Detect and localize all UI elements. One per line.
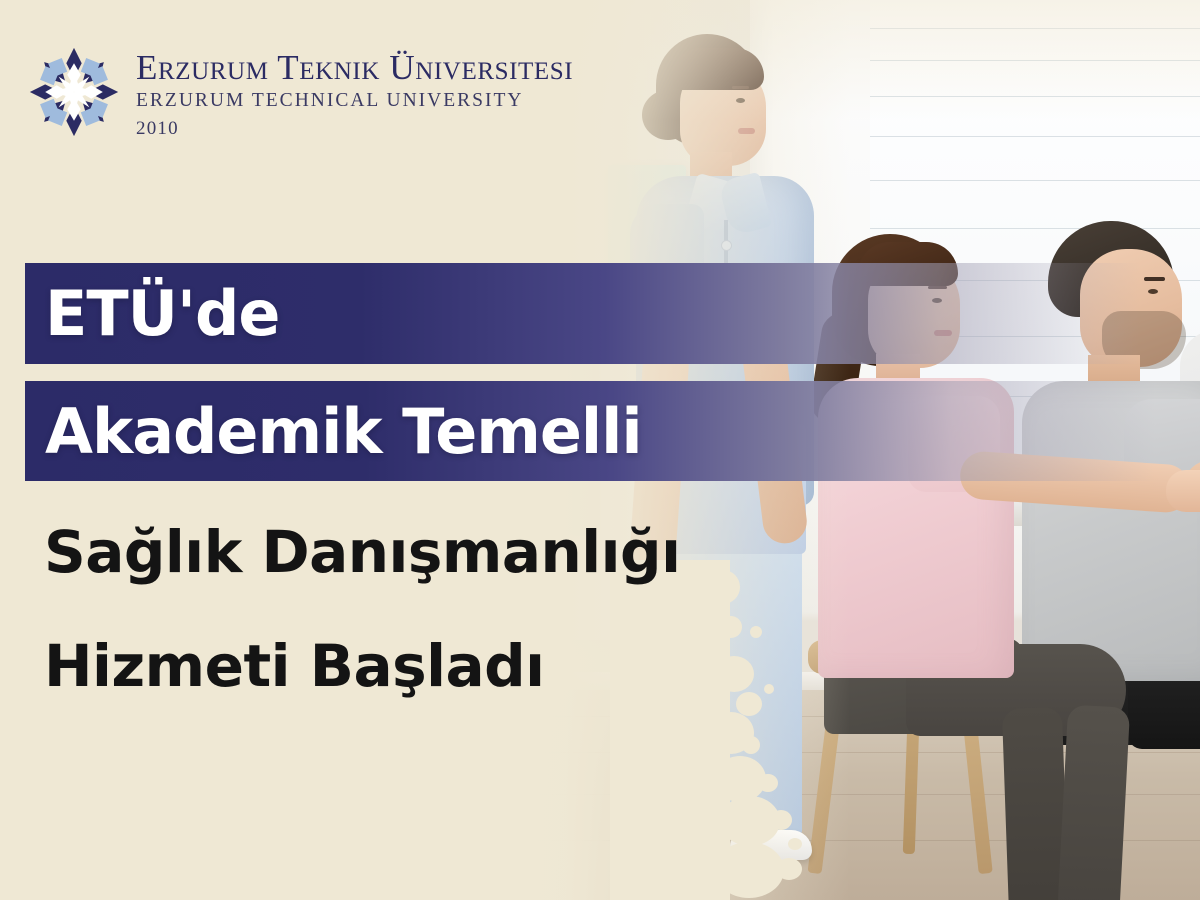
- headline-line-4: Hizmeti Başladı: [44, 632, 545, 700]
- university-name-en: ERZURUM TECHNICAL UNIVERSITY: [136, 91, 573, 111]
- snowflake-emblem-icon: [26, 44, 122, 140]
- headline-line-3: Sağlık Danışmanlığı: [44, 518, 680, 586]
- headline-banner-2-text: Akademik Temelli: [25, 395, 642, 468]
- university-name-tr: Erzurum Teknik Üniversitesi: [136, 50, 573, 85]
- poster-root: Erzurum Teknik Üniversitesi ERZURUM TECH…: [0, 0, 1200, 900]
- logo-text-block: Erzurum Teknik Üniversitesi ERZURUM TECH…: [136, 44, 573, 140]
- headline-banner-2: Akademik Temelli: [25, 381, 1155, 481]
- headline-banner-1: ETÜ'de: [25, 263, 1140, 364]
- headline-banner-1-text: ETÜ'de: [25, 277, 279, 350]
- university-founded-year: 2010: [136, 118, 573, 140]
- university-logo: Erzurum Teknik Üniversitesi ERZURUM TECH…: [26, 44, 573, 140]
